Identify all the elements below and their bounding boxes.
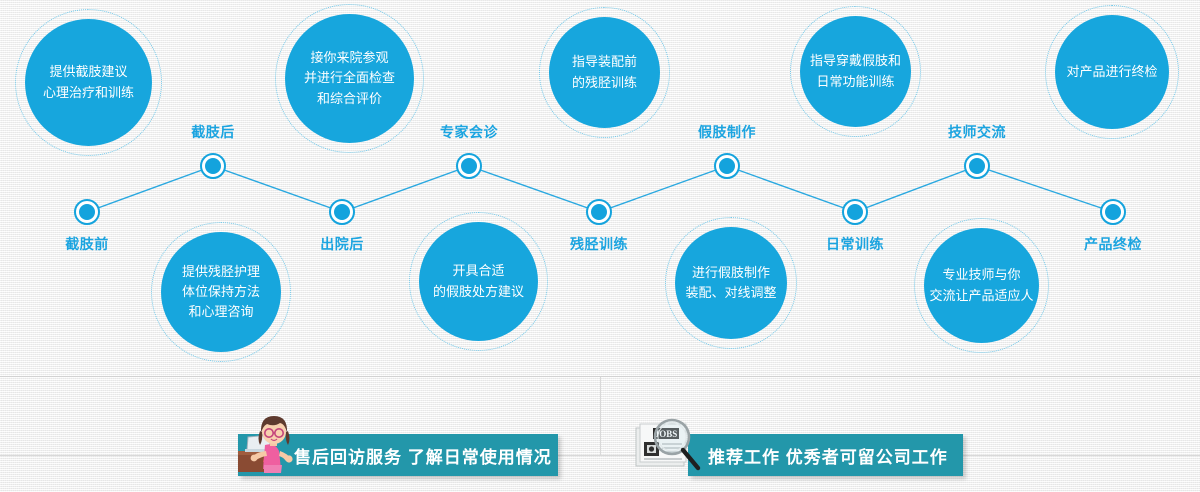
bubble-line: 并进行全面检查 [304, 68, 395, 88]
flow-bubble-prosthesis-make[interactable]: 进行假肢制作 装配、对线调整 [665, 217, 797, 349]
bubble-line: 的残胫训练 [572, 73, 637, 93]
flow-bubble-expert-consult[interactable]: 开具合适 的假肢处方建议 [409, 212, 548, 351]
bubble-line: 交流让产品适应人 [929, 286, 1033, 306]
flow-bubble-daily-training[interactable]: 指导穿戴假肢和 日常功能训练 [790, 6, 921, 137]
bubble-line: 体位保持方法 [182, 282, 260, 302]
bubble-line: 专业技师与你 [942, 265, 1020, 285]
bubble-line: 装配、对线调整 [685, 283, 776, 303]
bubble-line: 的假肢处方建议 [433, 282, 524, 302]
bubble-line: 日常功能训练 [816, 72, 894, 92]
flow-bubble-final-inspection[interactable]: 对产品进行终检 [1045, 5, 1179, 139]
flow-node-label-technician-talk: 技师交流 [948, 122, 1006, 142]
flow-bubble-post-discharge[interactable]: 接你来院参观 并进行全面检查 和综合评价 [275, 4, 424, 153]
banner-job-referral-label: 推荐工作 优秀者可留公司工作 [708, 443, 948, 468]
process-flow-diagram: 截肢前 截肢后 出院后 专家会诊 残胫训练 假肢制作 日常训练 技师交流 产品终… [0, 0, 1200, 376]
bubble-line: 指导装配前 [572, 52, 637, 72]
jobs-magnifier-icon: JOBS [632, 414, 704, 478]
bubble-line: 提供截肢建议 [49, 62, 127, 82]
flow-bubble-text-technician-talk: 专业技师与你 交流让产品适应人 [924, 228, 1039, 343]
flow-bubble-text-daily-training: 指导穿戴假肢和 日常功能训练 [800, 16, 911, 127]
bubble-line: 接你来院参观 [310, 48, 388, 68]
flow-node-label-pre-amputation: 截肢前 [65, 234, 109, 254]
flow-bubble-text-expert-consult: 开具合适 的假肢处方建议 [419, 222, 538, 341]
flow-bubble-post-amputation[interactable]: 提供残胫护理 体位保持方法 和心理咨询 [151, 222, 291, 362]
flow-node-prosthesis-make[interactable] [714, 153, 740, 179]
flow-node-label-post-amputation: 截肢后 [191, 122, 235, 142]
flow-bubble-text-residual-training: 指导装配前 的残胫训练 [549, 17, 660, 128]
flow-node-residual-training[interactable] [586, 199, 612, 225]
flow-bubble-technician-talk[interactable]: 专业技师与你 交流让产品适应人 [914, 218, 1049, 353]
bubble-line: 提供残胫护理 [182, 262, 260, 282]
flow-bubble-text-post-discharge: 接你来院参观 并进行全面检查 和综合评价 [285, 14, 414, 143]
bubble-line: 和心理咨询 [188, 302, 253, 322]
banner-connector-vertical [600, 377, 601, 455]
flow-node-post-discharge[interactable] [329, 199, 355, 225]
flow-node-expert-consult[interactable] [456, 153, 482, 179]
banner-connector-horizontal [0, 455, 1200, 456]
bubble-line: 对产品进行终检 [1066, 62, 1157, 82]
flow-node-label-final-inspection: 产品终检 [1084, 234, 1142, 254]
flow-node-label-prosthesis-make: 假肢制作 [698, 122, 756, 142]
banner-after-sales-label: 售后回访服务 了解日常使用情况 [294, 443, 552, 468]
flow-node-final-inspection[interactable] [1100, 199, 1126, 225]
flow-bubble-text-prosthesis-make: 进行假肢制作 装配、对线调整 [675, 227, 787, 339]
flow-bubble-text-pre-amputation: 提供截肢建议 心理治疗和训练 [25, 19, 152, 146]
flow-node-technician-talk[interactable] [964, 153, 990, 179]
banner-job-referral[interactable]: 推荐工作 优秀者可留公司工作 [688, 434, 963, 476]
bubble-line: 心理治疗和训练 [43, 83, 134, 103]
flow-node-label-residual-training: 残胫训练 [570, 234, 628, 254]
flow-node-label-expert-consult: 专家会诊 [440, 122, 498, 142]
flow-node-pre-amputation[interactable] [74, 199, 100, 225]
flow-node-label-post-discharge: 出院后 [320, 234, 364, 254]
bubble-line: 进行假肢制作 [692, 263, 770, 283]
woman-at-desk-icon [236, 413, 302, 475]
flow-node-post-amputation[interactable] [200, 153, 226, 179]
flow-bubble-text-final-inspection: 对产品进行终检 [1055, 15, 1169, 129]
bubble-line: 和综合评价 [317, 89, 382, 109]
bubble-line: 开具合适 [452, 261, 504, 281]
flow-node-label-daily-training: 日常训练 [826, 234, 884, 254]
flow-bubble-pre-amputation[interactable]: 提供截肢建议 心理治疗和训练 [15, 9, 162, 156]
flow-bubble-text-post-amputation: 提供残胫护理 体位保持方法 和心理咨询 [161, 232, 281, 352]
bubble-line: 指导穿戴假肢和 [810, 51, 901, 71]
flow-bubble-residual-training[interactable]: 指导装配前 的残胫训练 [539, 7, 670, 138]
flow-node-daily-training[interactable] [842, 199, 868, 225]
